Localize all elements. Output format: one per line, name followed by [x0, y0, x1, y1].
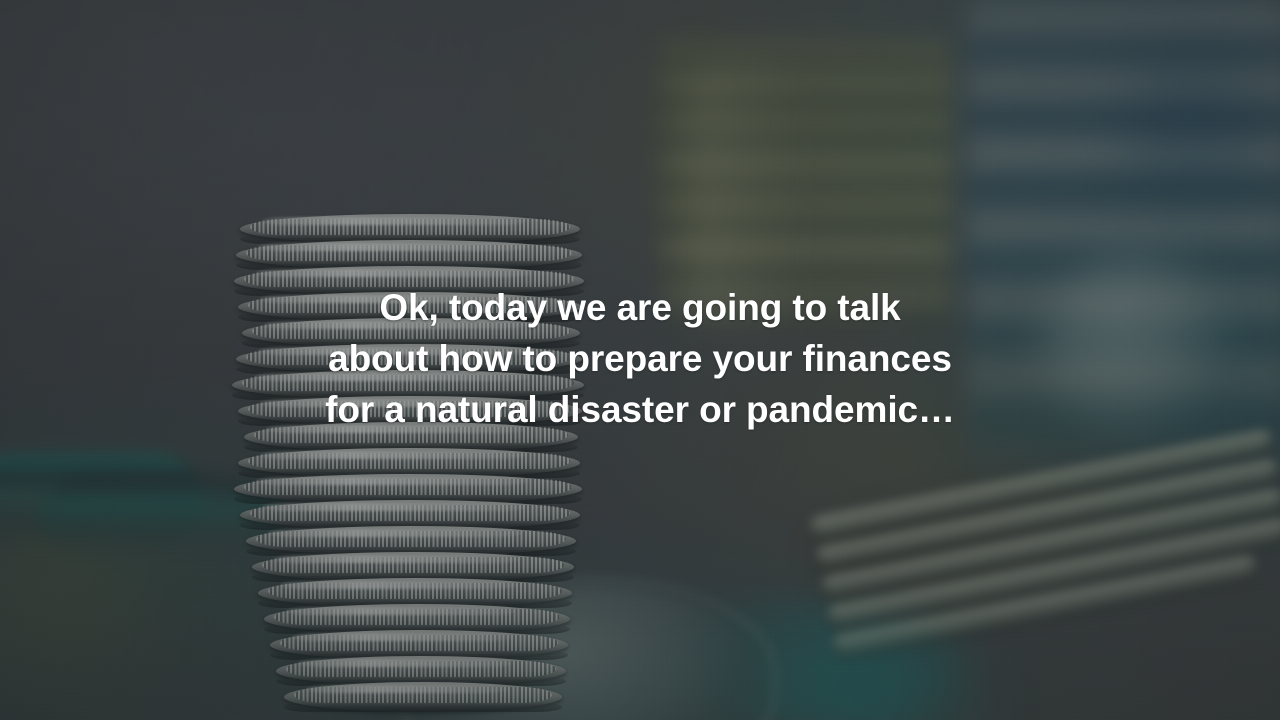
video-caption: Ok, today we are going to talk about how…	[0, 282, 1280, 435]
video-frame: Ok, today we are going to talk about how…	[0, 0, 1280, 720]
caption-line-2: about how to prepare your finances	[150, 333, 1130, 384]
caption-line-3: for a natural disaster or pandemic…	[150, 384, 1130, 435]
caption-line-1: Ok, today we are going to talk	[150, 282, 1130, 333]
